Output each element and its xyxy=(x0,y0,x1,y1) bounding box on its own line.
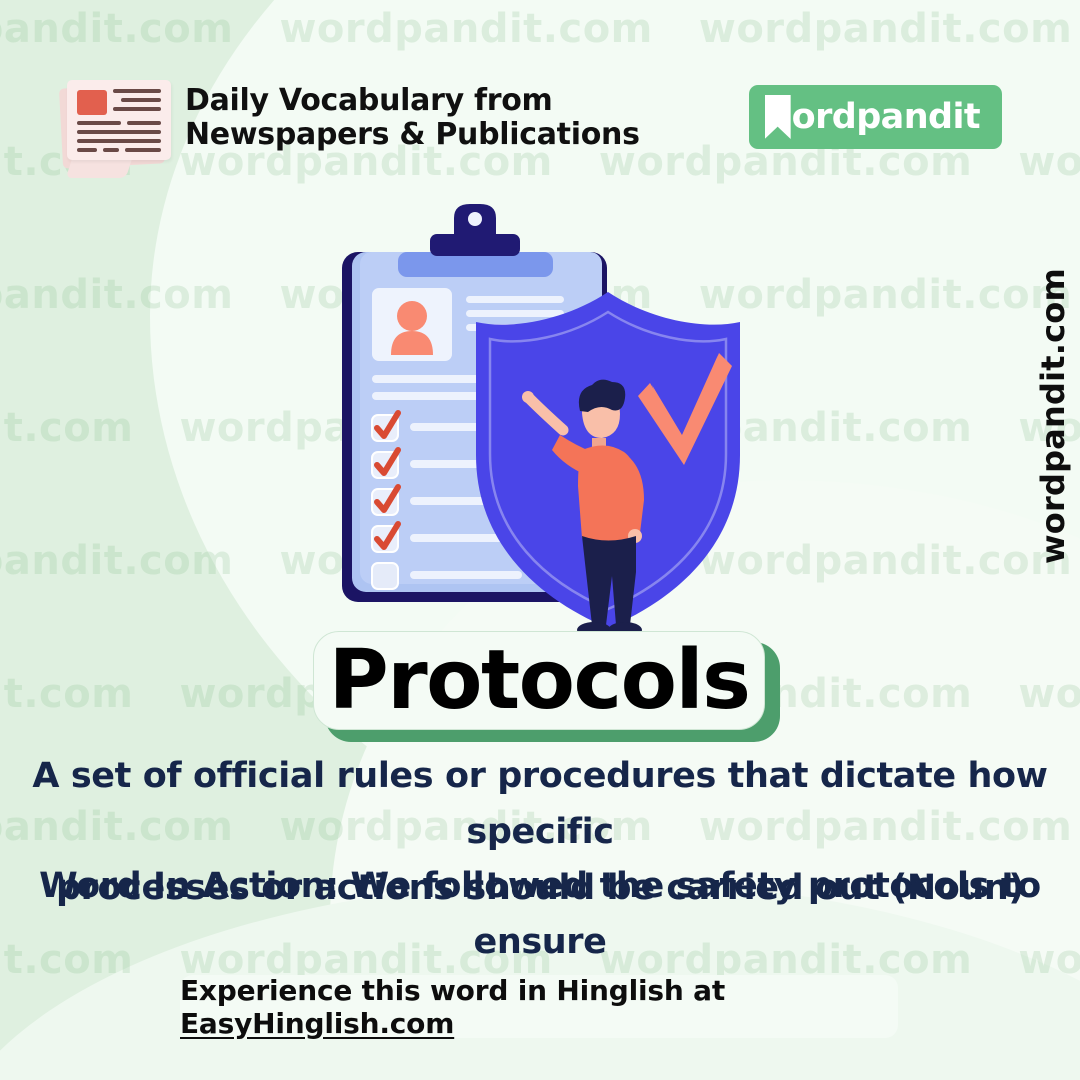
clipboard-shield-illustration xyxy=(320,200,760,650)
header: Daily Vocabulary from Newspapers & Publi… xyxy=(55,68,640,168)
wordpandit-logo[interactable]: ordpandit xyxy=(749,85,1002,149)
page-title: Protocols xyxy=(329,640,750,722)
footer-prefix: Experience this word in Hinglish at xyxy=(180,974,725,1007)
header-title-line1: Daily Vocabulary from xyxy=(185,84,640,118)
newspaper-icon xyxy=(55,68,175,168)
definition-line1: A set of official rules or procedures th… xyxy=(14,748,1066,860)
easyhinglish-link[interactable]: EasyHinglish.com xyxy=(180,1007,454,1040)
word-box: Protocols xyxy=(313,631,765,730)
example-line1: Word In Action: We followed the safety p… xyxy=(14,858,1066,970)
hinglish-cta-box[interactable]: Experience this word in Hinglish at Easy… xyxy=(180,975,898,1038)
header-title: Daily Vocabulary from Newspapers & Publi… xyxy=(185,84,640,152)
w-bookmark-icon xyxy=(765,95,791,139)
logo-text: ordpandit xyxy=(792,100,980,135)
vocabulary-card: wordpandit.comwordpandit.comwordpandit.c… xyxy=(0,0,1080,1080)
footer-text: Experience this word in Hinglish at Easy… xyxy=(180,974,898,1040)
watermark-row: wordpandit.comwordpandit.comwordpandit.c… xyxy=(0,6,1080,52)
side-watermark-text: wordpandit.com xyxy=(1034,268,1072,564)
word-title-container: Protocols xyxy=(313,631,768,735)
header-title-line2: Newspapers & Publications xyxy=(185,118,640,152)
